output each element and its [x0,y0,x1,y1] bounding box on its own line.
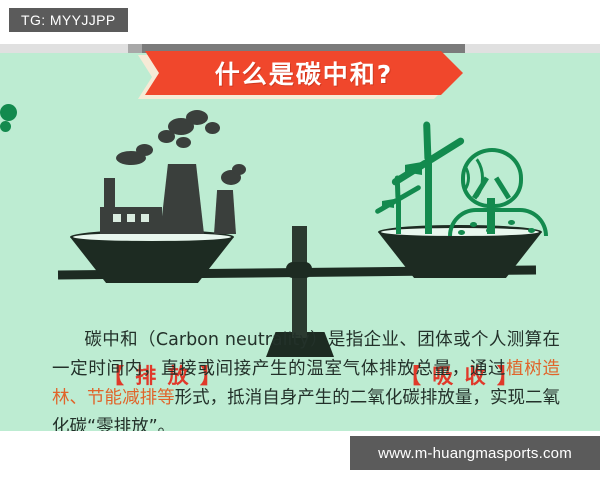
smoke-puff-icon [186,110,208,125]
turbine-hub-icon [0,104,17,121]
telegram-watermark-label: TG: MYYJJPP [21,12,116,28]
scale-post-icon [292,226,307,338]
site-url-bar: www.m-huangmasports.com [350,436,600,470]
smoke-puff-icon [232,164,246,175]
smoke-puff-icon [136,144,153,156]
tree-canopy-icon [461,148,523,208]
scale-fulcrum-knob-icon [286,262,312,278]
pebble-icon [458,230,465,235]
title-banner: 什么是碳中和? [138,51,463,99]
smoke-puff-icon [158,130,175,143]
page-root: TG: MYYJJPP 什么是碳中和? [0,0,600,480]
definition-text-part-1: 碳中和（Carbon neutrality）是指企业、团体或个人测算在一定时间内… [52,330,560,379]
turbine-hub-icon [0,121,11,132]
wind-turbine-mast-icon [425,156,432,234]
page-title: 什么是碳中和? [215,55,394,91]
smokestack-icon [214,190,236,234]
pebble-icon [508,220,515,225]
factory-window-icon [113,214,121,222]
smoke-puff-icon [205,122,220,134]
balance-scale-illustration: 【 排 放 】 【 吸 收 】 [0,104,600,344]
turbine-blade-icon [395,175,401,199]
title-banner-ribbon: 什么是碳中和? [145,51,463,95]
turbine-blade-icon [423,121,431,161]
smoke-puff-icon [176,137,191,148]
pebble-icon [486,228,493,233]
factory-chimney-icon [104,178,115,210]
cooling-tower-icon [160,164,204,234]
infographic-artboard: 什么是碳中和? [0,44,600,431]
pebble-icon [470,222,477,227]
factory-window-icon [141,214,149,222]
factory-window-icon [127,214,135,222]
site-url-label: www.m-huangmasports.com [378,445,572,462]
telegram-watermark-chip: TG: MYYJJPP [9,8,128,32]
definition-paragraph: 碳中和（Carbon neutrality）是指企业、团体或个人测算在一定时间内… [52,326,560,432]
turbine-blade-icon [397,184,422,201]
pebble-icon [528,228,535,233]
